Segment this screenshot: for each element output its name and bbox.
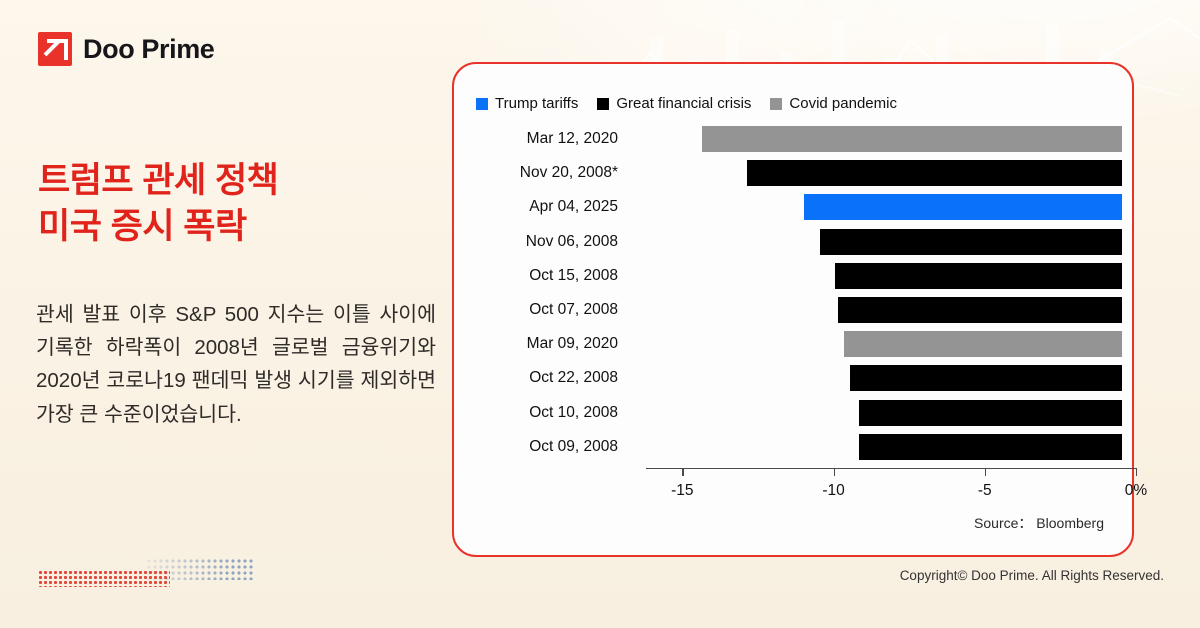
doo-prime-mark-icon [38, 32, 72, 66]
copyright-text: Copyright© Doo Prime. All Rights Reserve… [900, 568, 1164, 583]
axis-tick [1136, 468, 1137, 476]
chart-bar-row: Oct 07, 2008 [454, 293, 1132, 327]
chart-bar[interactable] [702, 126, 1122, 152]
halftone-decoration [38, 558, 253, 588]
chart-bar-row: Oct 10, 2008 [454, 396, 1132, 430]
bar-track [632, 396, 1122, 430]
chart-bar-row: Apr 04, 2025 [454, 190, 1132, 224]
chart-legend: Trump tariffsGreat financial crisisCovid… [476, 95, 897, 112]
chart-bar-row: Nov 20, 2008* [454, 156, 1132, 190]
headline-line-2: 미국 증시 폭락 [38, 204, 438, 250]
chart-x-axis: -15-10-50% [646, 468, 1136, 514]
axis-tick [985, 468, 986, 476]
bar-category-label: Oct 10, 2008 [454, 404, 632, 422]
bar-category-label: Oct 07, 2008 [454, 301, 632, 319]
chart-bar[interactable] [859, 400, 1122, 426]
bar-track [632, 190, 1122, 224]
headline-line-1: 트럼프 관세 정책 [38, 158, 438, 204]
bar-track [632, 293, 1122, 327]
chart-bar-row: Nov 06, 2008 [454, 225, 1132, 259]
bar-category-label: Oct 09, 2008 [454, 438, 632, 456]
bar-track [632, 156, 1122, 190]
bar-category-label: Apr 04, 2025 [454, 198, 632, 216]
axis-tick [682, 468, 683, 476]
legend-label: Trump tariffs [495, 95, 578, 112]
bar-track [632, 361, 1122, 395]
chart-bar[interactable] [850, 365, 1122, 391]
chart-bar-row: Mar 09, 2020 [454, 327, 1132, 361]
chart-bar[interactable] [859, 434, 1122, 460]
legend-swatch-icon [476, 98, 488, 110]
legend-label: Great financial crisis [616, 95, 751, 112]
chart-bar-row: Oct 22, 2008 [454, 361, 1132, 395]
chart-plot-area: Mar 12, 2020Nov 20, 2008*Apr 04, 2025Nov… [454, 122, 1132, 464]
bar-category-label: Nov 20, 2008* [454, 164, 632, 182]
bar-track [632, 122, 1122, 156]
axis-tick-label: -5 [978, 482, 992, 500]
legend-label: Covid pandemic [789, 95, 897, 112]
legend-swatch-icon [597, 98, 609, 110]
bar-category-label: Nov 06, 2008 [454, 233, 632, 251]
chart-bar[interactable] [835, 263, 1122, 289]
halftone-dots-red [38, 570, 170, 587]
legend-item[interactable]: Covid pandemic [770, 95, 897, 112]
brand-logo-text: Doo Prime [83, 34, 214, 65]
bar-category-label: Oct 22, 2008 [454, 369, 632, 387]
chart-bar[interactable] [820, 229, 1122, 255]
bar-track [632, 259, 1122, 293]
axis-line [646, 468, 1136, 469]
axis-tick-label: 0% [1125, 482, 1147, 500]
source-note: Source： Bloomberg [974, 513, 1104, 533]
legend-item[interactable]: Great financial crisis [597, 95, 751, 112]
chart-bar[interactable] [838, 297, 1122, 323]
chart-bar[interactable] [844, 331, 1122, 357]
legend-item[interactable]: Trump tariffs [476, 95, 578, 112]
bar-track [632, 430, 1122, 464]
legend-swatch-icon [770, 98, 782, 110]
bar-category-label: Mar 09, 2020 [454, 335, 632, 353]
axis-tick-label: -10 [822, 482, 844, 500]
chart-bar-row: Mar 12, 2020 [454, 122, 1132, 156]
axis-tick-label: -15 [671, 482, 693, 500]
bar-category-label: Oct 15, 2008 [454, 267, 632, 285]
chart-card: Trump tariffsGreat financial crisisCovid… [452, 62, 1134, 557]
body-paragraph: 관세 발표 이후 S&P 500 지수는 이틀 사이에 기록한 하락폭이 200… [36, 298, 436, 431]
bar-track [632, 327, 1122, 361]
chart-bar-row: Oct 15, 2008 [454, 259, 1132, 293]
chart-bar[interactable] [747, 160, 1122, 186]
headline: 트럼프 관세 정책 미국 증시 폭락 [38, 158, 438, 250]
axis-tick [834, 468, 835, 476]
bar-category-label: Mar 12, 2020 [454, 130, 632, 148]
brand-logo[interactable]: Doo Prime [38, 32, 214, 66]
bar-track [632, 225, 1122, 259]
chart-bar[interactable] [804, 194, 1122, 220]
chart-bar-row: Oct 09, 2008 [454, 430, 1132, 464]
